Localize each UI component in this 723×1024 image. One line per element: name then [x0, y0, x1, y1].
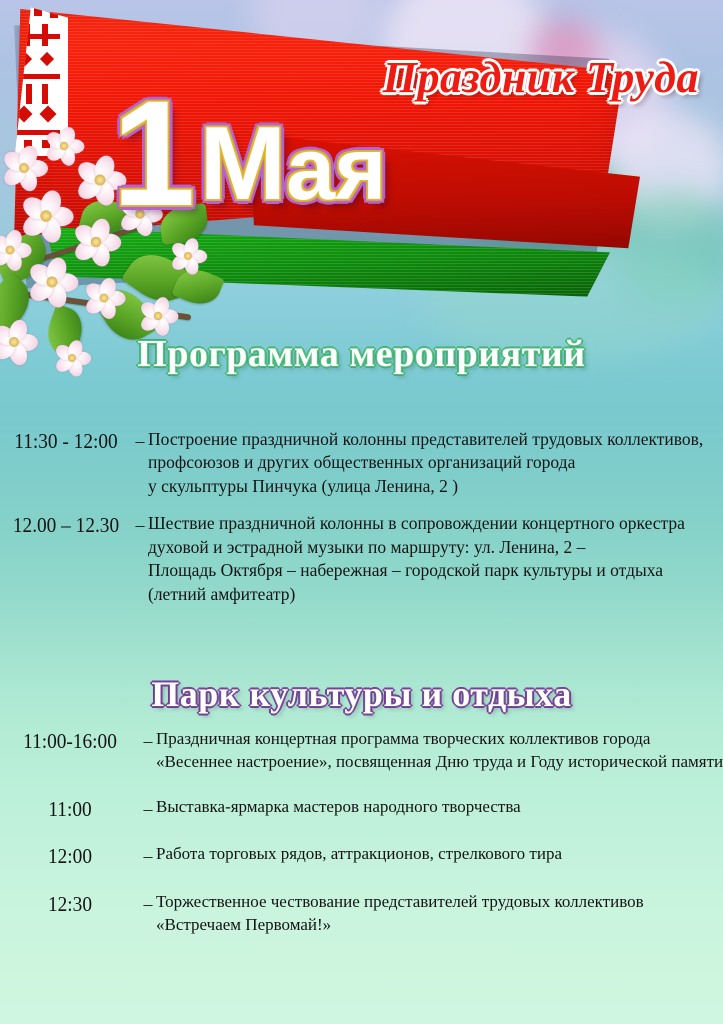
headline-holiday-title: Праздник Труда [383, 52, 699, 103]
schedule-row-line: (летний амфитеатр) [148, 583, 715, 606]
poster-canvas: Праздник Труда 1Мая Программа мероприяти… [0, 0, 723, 1024]
schedule-row-line: профсоюзов и других общественных организ… [148, 451, 715, 474]
blossom-1 [2, 146, 46, 190]
schedule-row-line: у скульптуры Пинчука (улица Ленина, 2 ) [148, 475, 715, 498]
schedule-row-time: 12:30 [6, 891, 135, 917]
schedule-row-line: Праздничная концертная программа творчес… [156, 728, 723, 751]
schedule-row-dash-icon: – [132, 428, 148, 454]
schedule-row: 12:30–Торжественное чествование представ… [0, 891, 723, 937]
blossom-8 [28, 258, 76, 306]
schedule-row-time: 12.00 – 12.30 [5, 512, 126, 538]
schedule-row-description: Праздничная концертная программа творчес… [156, 728, 723, 774]
schedule-row-dash-icon: – [140, 728, 156, 754]
schedule-row-dash-icon: – [140, 891, 156, 917]
schedule-row-line: Площадь Октября – набережная – городской… [148, 559, 715, 582]
schedule-row-line: «Весеннее настроение», посвященная Дню т… [156, 751, 723, 774]
schedule-row-line: Работа торговых рядов, аттракционов, стр… [156, 843, 715, 866]
schedule-main-list: 11:30 - 12:00–Построение праздничной кол… [0, 428, 723, 620]
schedule-row-dash-icon: – [140, 796, 156, 822]
schedule-row: 12.00 – 12.30–Шествие праздничной колонн… [0, 512, 723, 606]
schedule-row: 12:00–Работа торговых рядов, аттракционо… [0, 843, 723, 869]
schedule-row-line: Шествие праздничной колонны в сопровожде… [148, 512, 715, 535]
schedule-row-description: Выставка-ярмарка мастеров народного твор… [156, 796, 723, 819]
schedule-row-description: Работа торговых рядов, аттракционов, стр… [156, 843, 723, 866]
blossom-6 [0, 230, 30, 270]
headline-date-month-rest: ая [286, 119, 386, 218]
headline-date: 1Мая [112, 78, 386, 228]
schedule-row-line: Выставка-ярмарка мастеров народного твор… [156, 796, 715, 819]
schedule-row-time: 12:00 [6, 843, 135, 869]
schedule-row: 11:00–Выставка-ярмарка мастеров народног… [0, 796, 723, 822]
schedule-row: 11:00-16:00–Праздничная концертная прогр… [0, 728, 723, 774]
schedule-row-time: 11:00 [6, 796, 135, 822]
blossom-9 [84, 278, 124, 318]
schedule-row-time: 11:00-16:00 [6, 728, 135, 754]
schedule-row-time: 11:30 - 12:00 [5, 428, 126, 454]
schedule-row-line: Построение праздничной колонны представи… [148, 428, 715, 451]
headline-date-month-cap: М [199, 106, 286, 222]
headline-date-day: 1 [112, 69, 199, 237]
schedule-row: 11:30 - 12:00–Построение праздничной кол… [0, 428, 723, 498]
blossom-10 [139, 297, 176, 334]
schedule-park-list: 11:00-16:00–Праздничная концертная прогр… [0, 728, 723, 959]
schedule-row-line: духовой и эстрадной музыки по маршруту: … [148, 536, 715, 559]
section-title-park: Парк культуры и отдыха [0, 673, 723, 715]
schedule-row-description: Шествие праздничной колонны в сопровожде… [148, 512, 723, 606]
schedule-row-dash-icon: – [140, 843, 156, 869]
schedule-row-line: «Встречаем Первомай!» [156, 914, 715, 937]
schedule-row-description: Построение праздничной колонны представи… [148, 428, 723, 498]
schedule-row-dash-icon: – [132, 512, 148, 538]
blossom-13 [170, 238, 205, 273]
schedule-row-line: Торжественное чествование представителей… [156, 891, 715, 914]
schedule-row-description: Торжественное чествование представителей… [156, 891, 723, 937]
section-title-program: Программа мероприятий [0, 332, 723, 376]
